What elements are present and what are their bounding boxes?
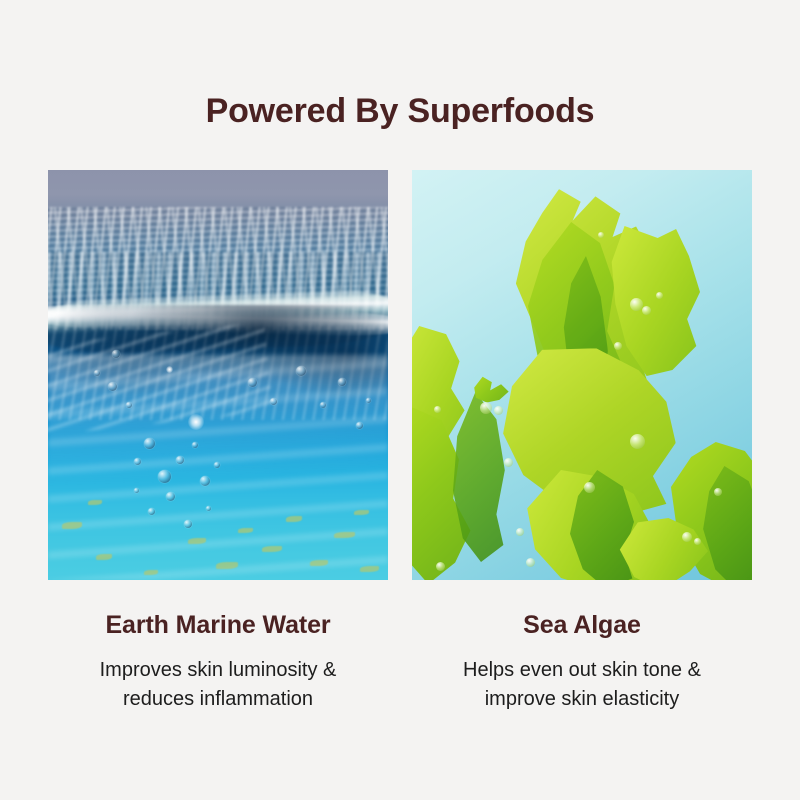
- superfood-description-line-1: Improves skin luminosity &: [100, 659, 337, 681]
- fish: [286, 516, 302, 522]
- water-droplet: [682, 532, 692, 542]
- superfood-title: Earth Marine Water: [105, 610, 330, 640]
- water-droplet: [642, 306, 651, 315]
- bubble: [144, 438, 155, 449]
- earth-marine-water-photo: [48, 170, 388, 580]
- water-droplet: [656, 292, 663, 299]
- water-droplet: [630, 434, 645, 449]
- bubble: [184, 520, 192, 528]
- fish: [144, 570, 158, 575]
- bubble: [320, 402, 326, 408]
- fish: [334, 532, 355, 538]
- bubble: [112, 350, 120, 358]
- bubble: [366, 398, 371, 403]
- bubble: [94, 370, 100, 376]
- bubble: [296, 366, 306, 376]
- superfood-description-line-2: improve skin elasticity: [485, 688, 680, 710]
- bubble: [134, 488, 139, 493]
- fish: [360, 566, 379, 572]
- sea-algae-photo: [412, 170, 752, 580]
- page-title: Powered By Superfoods: [0, 90, 800, 132]
- water-droplet: [584, 482, 595, 493]
- water-droplet: [714, 488, 722, 496]
- bubble: [356, 422, 363, 429]
- superfood-card-earth-marine-water: Earth Marine Water Improves skin luminos…: [48, 170, 388, 714]
- bubble: [248, 378, 257, 387]
- superfood-description: Helps even out skin tone & improve skin …: [463, 656, 701, 714]
- fish: [354, 510, 369, 515]
- water-droplet: [436, 562, 445, 571]
- water-droplet: [614, 342, 622, 350]
- bubble: [158, 470, 171, 483]
- bubble: [206, 506, 211, 511]
- water-droplet: [480, 402, 492, 414]
- water-droplet: [504, 458, 513, 467]
- bubble: [338, 378, 346, 386]
- fish: [310, 560, 328, 566]
- water-droplet: [494, 406, 503, 415]
- bubble: [200, 476, 210, 486]
- water-droplet: [694, 538, 701, 545]
- bubble: [270, 398, 277, 405]
- water-droplet: [526, 558, 535, 567]
- water-droplet: [598, 232, 604, 238]
- bubble: [176, 456, 184, 464]
- bubble: [126, 402, 132, 408]
- superfood-card-grid: Earth Marine Water Improves skin luminos…: [48, 170, 752, 714]
- water-droplet: [434, 406, 441, 413]
- light-glint: [166, 366, 173, 373]
- bubble: [108, 382, 117, 391]
- fish: [96, 554, 112, 560]
- fish: [262, 546, 282, 552]
- fish: [88, 500, 102, 505]
- bubble: [148, 508, 155, 515]
- fish: [62, 522, 82, 529]
- superfood-card-sea-algae: Sea Algae Helps even out skin tone & imp…: [412, 170, 752, 714]
- superfood-description-line-1: Helps even out skin tone &: [463, 659, 701, 681]
- water-droplet: [516, 528, 524, 536]
- bubble: [214, 462, 220, 468]
- bubble: [192, 442, 198, 448]
- superfood-description: Improves skin luminosity & reduces infla…: [100, 656, 337, 714]
- superfood-title: Sea Algae: [523, 610, 641, 640]
- superfood-description-line-2: reduces inflammation: [123, 688, 313, 710]
- fish: [216, 562, 238, 569]
- bubble: [134, 458, 141, 465]
- bubble: [166, 492, 175, 501]
- light-glint: [188, 414, 204, 430]
- fish: [188, 538, 206, 544]
- fish: [238, 528, 253, 533]
- superfoods-section: Powered By Superfoods: [0, 0, 800, 800]
